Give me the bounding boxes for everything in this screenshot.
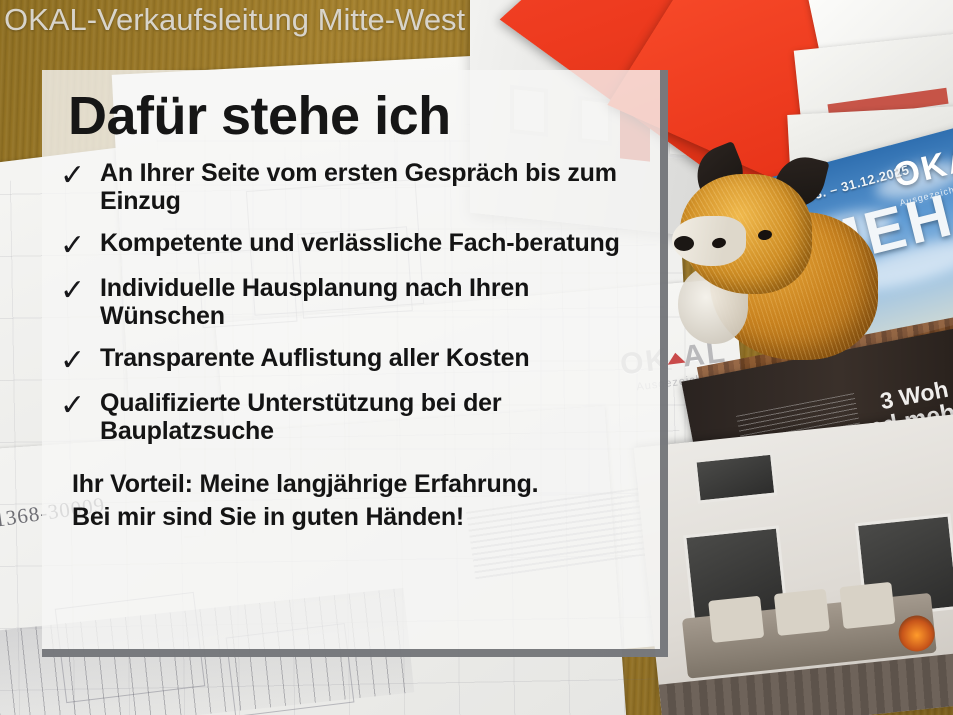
- check-icon: ✓: [60, 159, 100, 191]
- list-item: ✓ Transparente Auflistung aller Kosten: [60, 344, 642, 376]
- house-photo-cushion-3: [839, 582, 895, 629]
- closing-statement: Ihr Vorteil: Meine langjährige Erfahrung…: [72, 468, 642, 535]
- list-item: ✓ Qualifizierte Unterstützung bei der Ba…: [60, 389, 642, 446]
- app-title: OKAL-Verkaufsleitung Mitte-West: [4, 2, 465, 38]
- house-photo-upper-window: [693, 452, 777, 504]
- content-panel: Dafür stehe ich ✓ An Ihrer Seite vom ers…: [42, 70, 668, 657]
- list-item: ✓ Kompetente und verlässliche Fach-berat…: [60, 229, 642, 261]
- house-exterior-photo: [634, 414, 953, 715]
- check-icon: ✓: [60, 274, 100, 306]
- check-icon: ✓: [60, 389, 100, 421]
- check-icon: ✓: [60, 344, 100, 376]
- list-item-label: An Ihrer Seite vom ersten Gespräch bis z…: [100, 159, 642, 216]
- list-item-label: Kompetente und verlässliche Fach-beratun…: [100, 229, 620, 258]
- benefits-list: ✓ An Ihrer Seite vom ersten Gespräch bis…: [60, 159, 642, 446]
- check-icon: ✓: [60, 229, 100, 261]
- screenshot-root: 1368-30009 OKAL Ausgezeichnete Häuser OK…: [0, 0, 953, 715]
- fox-nose: [674, 236, 694, 251]
- list-item-label: Qualifizierte Unterstützung bei der Baup…: [100, 389, 642, 446]
- house-photo-cushion-2: [774, 589, 830, 636]
- list-item: ✓ Individuelle Hausplanung nach Ihren Wü…: [60, 274, 642, 331]
- closing-statement-line-2: Bei mir sind Sie in guten Händen!: [72, 501, 642, 535]
- list-item-label: Individuelle Hausplanung nach Ihren Wüns…: [100, 274, 642, 331]
- house-photo-cushion-1: [708, 596, 764, 643]
- page-title: Dafür stehe ich: [68, 88, 642, 145]
- plush-fox-figurine: [672, 150, 882, 360]
- closing-statement-line-1: Ihr Vorteil: Meine langjährige Erfahrung…: [72, 468, 642, 502]
- list-item-label: Transparente Auflistung aller Kosten: [100, 344, 529, 373]
- list-item: ✓ An Ihrer Seite vom ersten Gespräch bis…: [60, 159, 642, 216]
